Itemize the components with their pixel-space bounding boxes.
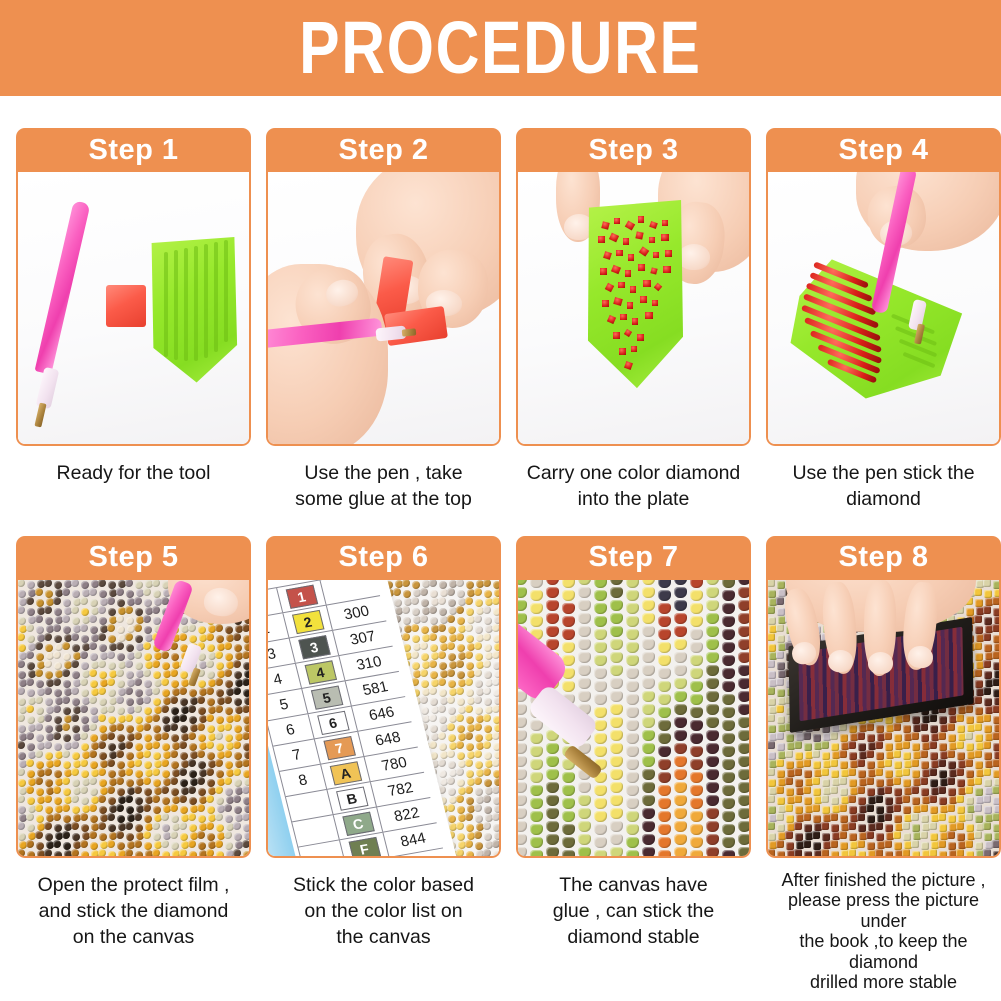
step-card-2: Step 2 bbox=[266, 128, 501, 513]
step-card-5: Step 5 Open the protect film , and stick… bbox=[16, 536, 251, 993]
step-1-caption: Ready for the tool bbox=[16, 460, 251, 486]
chart-symbol-swatch: B bbox=[335, 786, 367, 810]
step-6-caption: Stick the color based on the color list … bbox=[266, 872, 501, 951]
chart-symbol-swatch: 6 bbox=[317, 710, 349, 734]
step-8-card: Step 8 bbox=[766, 536, 1001, 858]
step-card-8: Step 8 bbox=[766, 536, 1001, 993]
step-6-card: Step 6 112230033307443105558166646776488… bbox=[266, 536, 501, 858]
step-2-card: Step 2 bbox=[266, 128, 501, 446]
page-title: PROCEDURE bbox=[299, 11, 701, 85]
chart-symbol-swatch: 1 bbox=[285, 584, 317, 608]
step-3-label: Step 3 bbox=[516, 128, 751, 172]
page-header: PROCEDURE bbox=[0, 0, 1001, 96]
step-3-caption: Carry one color diamond into the plate bbox=[516, 460, 751, 513]
step-6-label: Step 6 bbox=[266, 536, 501, 580]
step-6-photo: 112230033307443105558166646776488A780B78… bbox=[266, 580, 501, 858]
chart-symbol-swatch: 7 bbox=[323, 735, 355, 759]
step-7-label: Step 7 bbox=[516, 536, 751, 580]
step-8-caption: After finished the picture , please pres… bbox=[766, 870, 1001, 993]
chart-symbol-swatch: 4 bbox=[304, 660, 336, 684]
steps-grid: Step 1 bbox=[0, 128, 1001, 993]
step-1-photo bbox=[16, 172, 251, 446]
step-7-caption: The canvas have glue , can stick the dia… bbox=[516, 872, 751, 951]
step-2-caption: Use the pen , take some glue at the top bbox=[266, 460, 501, 513]
step-2-label: Step 2 bbox=[266, 128, 501, 172]
step-7-card: Step 7 bbox=[516, 536, 751, 858]
step-card-3: Step 3 bbox=[516, 128, 751, 513]
step-8-label: Step 8 bbox=[766, 536, 1001, 580]
step-card-6: Step 6 112230033307443105558166646776488… bbox=[266, 536, 501, 993]
step-card-4: Step 4 bbox=[766, 128, 1001, 513]
step-8-photo bbox=[766, 580, 1001, 858]
chart-symbol-swatch: 3 bbox=[298, 634, 330, 658]
step-card-7: Step 7 The canvas have glue , can stick … bbox=[516, 536, 751, 993]
step-5-photo bbox=[16, 580, 251, 858]
chart-symbol-swatch: 5 bbox=[310, 685, 342, 709]
chart-symbol-swatch: A bbox=[329, 760, 361, 784]
step-3-photo bbox=[516, 172, 751, 446]
glue-square bbox=[106, 285, 146, 327]
chart-symbol-swatch: C bbox=[342, 811, 374, 835]
step-card-1: Step 1 bbox=[16, 128, 251, 513]
step-1-card: Step 1 bbox=[16, 128, 251, 446]
chart-symbol-swatch: 2 bbox=[291, 609, 323, 633]
step-5-label: Step 5 bbox=[16, 536, 251, 580]
step-4-label: Step 4 bbox=[766, 128, 1001, 172]
step-3-card: Step 3 bbox=[516, 128, 751, 446]
step-4-caption: Use the pen stick the diamond bbox=[766, 460, 1001, 513]
step-7-photo bbox=[516, 580, 751, 858]
steps-row-bottom: Step 5 Open the protect film , and stick… bbox=[0, 536, 1001, 993]
step-1-label: Step 1 bbox=[16, 128, 251, 172]
step-5-caption: Open the protect film , and stick the di… bbox=[16, 872, 251, 951]
step-2-photo bbox=[266, 172, 501, 446]
step-4-card: Step 4 bbox=[766, 128, 1001, 446]
chart-symbol-swatch: F bbox=[348, 836, 380, 858]
steps-row-top: Step 1 bbox=[0, 128, 1001, 513]
step-5-card: Step 5 bbox=[16, 536, 251, 858]
step-4-photo bbox=[766, 172, 1001, 446]
